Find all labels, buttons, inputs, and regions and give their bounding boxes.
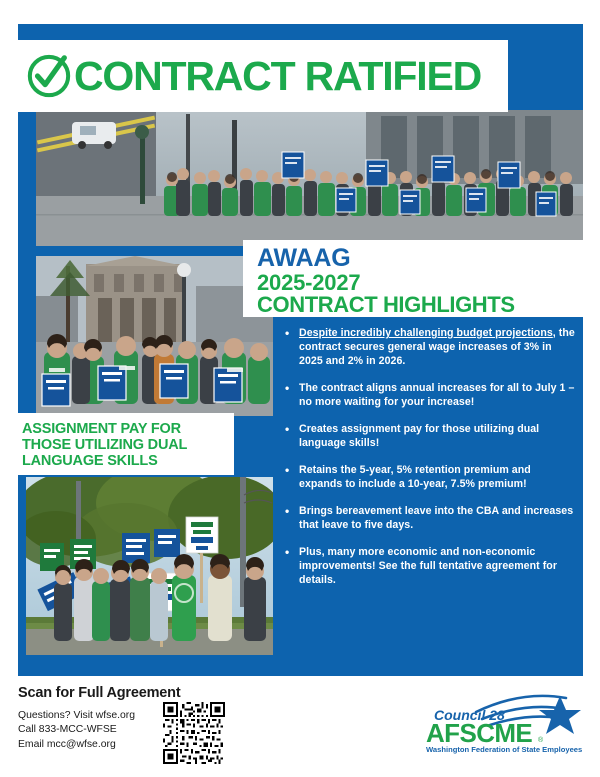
picket-line-signs-photo bbox=[26, 477, 273, 655]
list-item: The contract aligns annual increases for… bbox=[285, 382, 575, 410]
list-item: Brings bereavement leave into the CBA an… bbox=[285, 505, 575, 533]
header-banner: CONTRACT RATIFIED bbox=[8, 40, 508, 112]
contact-email: Email mcc@wfse.org bbox=[18, 738, 135, 752]
rally-marchers-courthouse-photo bbox=[36, 256, 273, 416]
flyer-poster: CONTRACT RATIFIED AWAAG 2025-2027 CONTRA… bbox=[0, 0, 600, 777]
bullet-text: Plus, many more economic and non-economi… bbox=[299, 546, 557, 586]
svg-text:Washington Federation of State: Washington Federation of State Employees bbox=[426, 745, 582, 754]
bullet-text: The contract aligns annual increases for… bbox=[299, 382, 574, 408]
list-item: Retains the 5-year, 5% retention premium… bbox=[285, 464, 575, 492]
svg-text:AFSCME: AFSCME bbox=[426, 718, 532, 748]
scan-heading: Scan for Full Agreement bbox=[18, 685, 180, 701]
contract-highlights-headline: AWAAG 2025-2027 CONTRACT HIGHLIGHTS bbox=[243, 240, 583, 317]
contact-website: Questions? Visit wfse.org bbox=[18, 709, 135, 723]
callout-line-3: LANGUAGE SKILLS bbox=[22, 453, 234, 469]
contact-phone: Call 833-MCC-WFSE bbox=[18, 723, 135, 737]
qr-code[interactable] bbox=[163, 702, 225, 764]
bullet-underlined-text: Despite incredibly challenging budget pr… bbox=[299, 327, 553, 339]
callout-line-2: THOSE UTILIZING DUAL bbox=[22, 437, 234, 453]
list-item: Plus, many more economic and non-economi… bbox=[285, 546, 575, 588]
list-item: Creates assignment pay for those utilizi… bbox=[285, 423, 575, 451]
headline-subtitle: CONTRACT HIGHLIGHTS bbox=[257, 294, 583, 317]
headline-years: 2025-2027 bbox=[257, 272, 583, 295]
page-title: CONTRACT RATIFIED bbox=[74, 56, 481, 97]
check-circle-icon bbox=[26, 53, 72, 99]
bullet-text: Retains the 5-year, 5% retention premium… bbox=[299, 464, 531, 490]
callout-line-1: ASSIGNMENT PAY FOR bbox=[22, 421, 234, 437]
assignment-pay-callout: ASSIGNMENT PAY FOR THOSE UTILIZING DUAL … bbox=[8, 413, 234, 475]
list-item: Despite incredibly challenging budget pr… bbox=[285, 327, 575, 369]
afscme-logo: Council 28 AFSCME ® Washington Federatio… bbox=[418, 690, 584, 756]
headline-org: AWAAG bbox=[257, 246, 583, 272]
bullet-text: Creates assignment pay for those utilizi… bbox=[299, 423, 539, 449]
svg-text:®: ® bbox=[538, 736, 544, 744]
contract-highlights-list: Despite incredibly challenging budget pr… bbox=[285, 327, 575, 588]
rally-crowd-street-photo bbox=[36, 110, 583, 246]
bullet-text: Brings bereavement leave into the CBA an… bbox=[299, 505, 573, 531]
contact-block: Questions? Visit wfse.org Call 833-MCC-W… bbox=[18, 709, 135, 752]
